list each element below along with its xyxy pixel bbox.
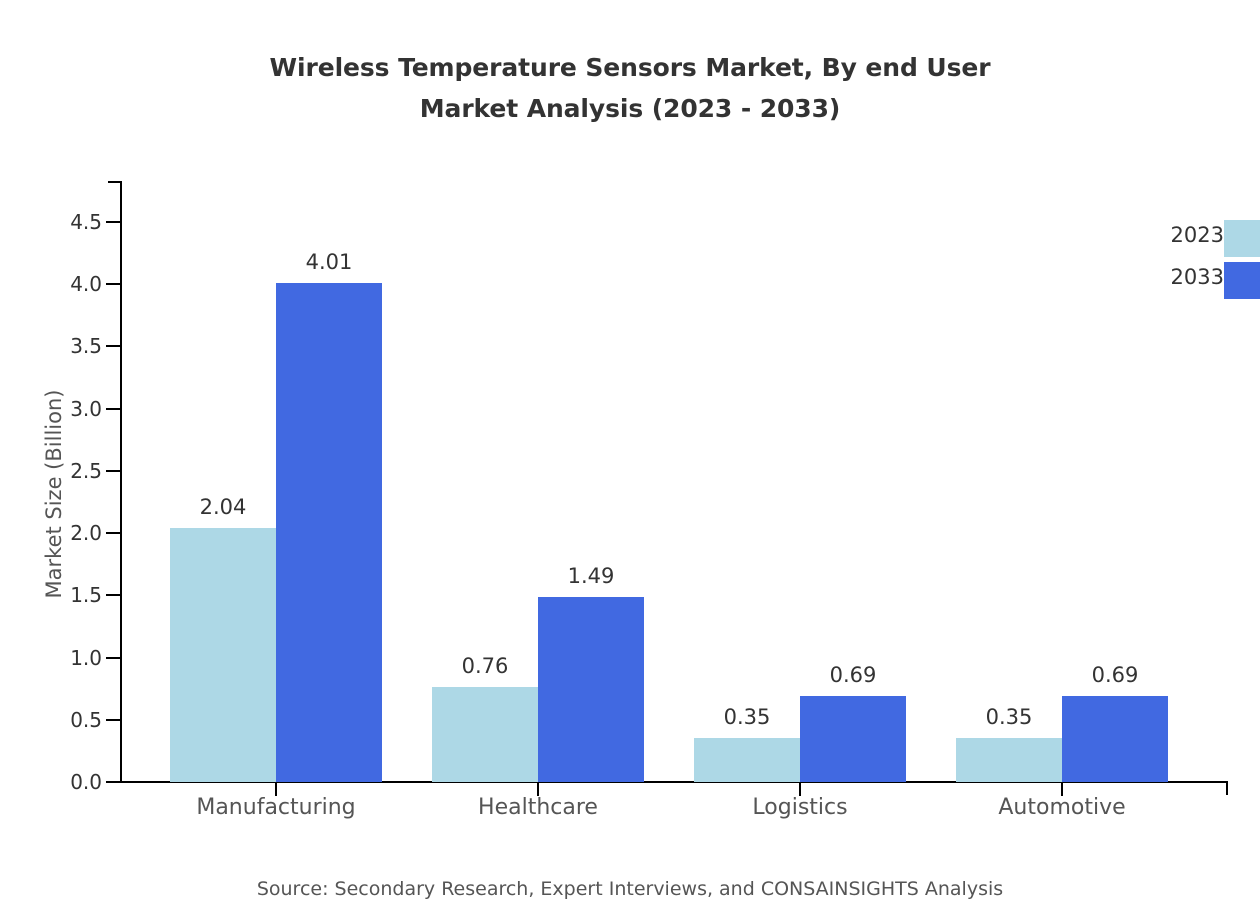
bar-manufacturing-2033[interactable]: [276, 283, 382, 782]
bar-value-label: 4.01: [239, 250, 419, 274]
bar-value-label: 1.49: [501, 564, 681, 588]
y-tick-label: 4.0: [0, 272, 102, 296]
x-tick-label-manufacturing: Manufacturing: [126, 795, 426, 820]
x-tick-label-automotive: Automotive: [912, 795, 1212, 820]
source-note: Source: Secondary Research, Expert Inter…: [0, 878, 1260, 900]
y-tick-mark: [106, 221, 120, 223]
chart-legend: 2023 2033: [1020, 218, 1260, 302]
y-tick-label: 3.5: [0, 334, 102, 358]
y-tick-label: 0.0: [0, 770, 102, 794]
legend-swatch-2033: [1224, 262, 1260, 299]
legend-item-2023[interactable]: 2023: [1020, 218, 1260, 260]
x-axis-end-cap: [1226, 781, 1228, 795]
y-tick-label: 1.5: [0, 583, 102, 607]
y-tick-label: 1.0: [0, 646, 102, 670]
bar-automotive-2033[interactable]: [1062, 696, 1168, 782]
legend-label-2033: 2033: [1171, 265, 1224, 289]
legend-swatch-2023: [1224, 220, 1260, 257]
bar-manufacturing-2023[interactable]: [170, 528, 276, 782]
y-tick-mark: [106, 532, 120, 534]
x-tick-label-healthcare: Healthcare: [388, 795, 688, 820]
bar-logistics-2023[interactable]: [694, 738, 800, 782]
y-tick-mark: [106, 470, 120, 472]
y-tick-mark: [106, 283, 120, 285]
bar-value-label: 0.69: [1025, 663, 1205, 687]
bar-value-label: 0.69: [763, 663, 943, 687]
y-tick-mark: [106, 657, 120, 659]
y-tick-mark: [106, 781, 120, 783]
y-tick-mark: [106, 594, 120, 596]
bar-automotive-2023[interactable]: [956, 738, 1062, 782]
y-tick-mark: [106, 408, 120, 410]
legend-item-2033[interactable]: 2033: [1020, 260, 1260, 302]
y-tick-label: 2.5: [0, 459, 102, 483]
chart-title-line-2: Market Analysis (2023 - 2033): [0, 89, 1260, 130]
bar-healthcare-2033[interactable]: [538, 597, 644, 782]
y-tick-mark: [106, 345, 120, 347]
chart-title: Wireless Temperature Sensors Market, By …: [0, 48, 1260, 129]
legend-label-2023: 2023: [1171, 223, 1224, 247]
y-tick-label: 3.0: [0, 397, 102, 421]
x-tick-label-logistics: Logistics: [650, 795, 950, 820]
bar-logistics-2033[interactable]: [800, 696, 906, 782]
y-tick-label: 4.5: [0, 210, 102, 234]
y-tick-mark: [106, 719, 120, 721]
chart-title-line-1: Wireless Temperature Sensors Market, By …: [0, 48, 1260, 89]
y-tick-label: 0.5: [0, 708, 102, 732]
bar-healthcare-2023[interactable]: [432, 687, 538, 782]
y-axis-title: Market Size (Billion): [42, 304, 66, 684]
y-tick-label: 2.0: [0, 521, 102, 545]
